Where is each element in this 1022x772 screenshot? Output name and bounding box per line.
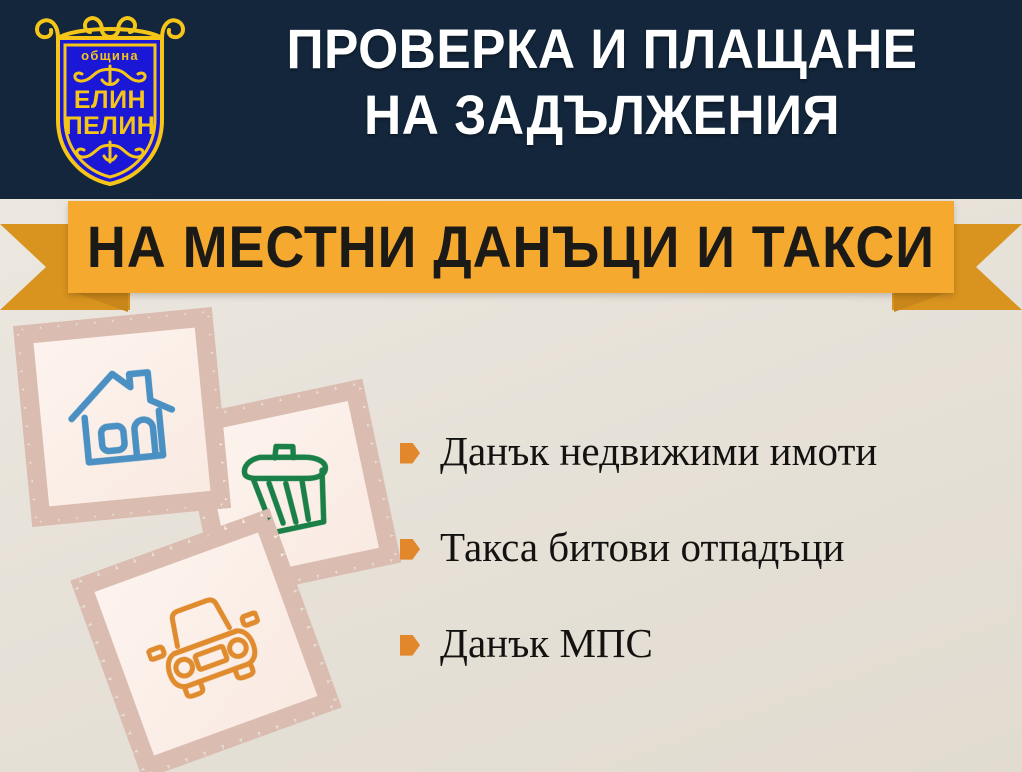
logo-text-elin: ЕЛИН <box>74 86 146 114</box>
list-item-label: Данък недвижими имоти <box>440 430 877 473</box>
list-item[interactable]: Такса битови отпадъци <box>400 526 1010 569</box>
stamp-paper <box>94 532 317 755</box>
house-icon <box>61 357 183 477</box>
ribbon-center-panel: НА МЕСТНИ ДАНЪЦИ И ТАКСИ <box>68 201 954 293</box>
list-item[interactable]: Данък недвижими имоти <box>400 430 1010 473</box>
bullet-arrow-icon <box>400 539 420 560</box>
elin-pelin-municipality-coat-of-arms-logo: община ЕЛИН ПЕЛИН <box>30 8 190 190</box>
page-title-line-2: НА ЗАДЪЛЖЕНИЯ <box>228 82 975 148</box>
subtitle-ribbon: НА МЕСТНИ ДАНЪЦИ И ТАКСИ <box>0 198 1022 310</box>
list-item-label: Данък МПС <box>440 622 653 665</box>
bullet-arrow-icon <box>400 635 420 656</box>
logo-text-pelin: ПЕЛИН <box>65 112 156 140</box>
bullet-arrow-icon <box>400 443 420 464</box>
stamp-card-house <box>13 307 231 527</box>
list-item-label: Такса битови отпадъци <box>440 526 844 569</box>
logo-text-obshtina: община <box>81 48 139 63</box>
poster-canvas: община ЕЛИН ПЕЛИН ПРОВЕРКА <box>0 0 1022 772</box>
stamp-paper <box>34 328 211 507</box>
coat-of-arms-icon: община ЕЛИН ПЕЛИН <box>30 8 190 190</box>
car-icon <box>134 579 278 710</box>
page-title: ПРОВЕРКА И ПЛАЩАНЕ НА ЗАДЪЛЖЕНИЯ <box>228 16 975 148</box>
list-item[interactable]: Данък МПС <box>400 622 1010 665</box>
page-title-line-1: ПРОВЕРКА И ПЛАЩАНЕ <box>228 16 975 82</box>
tax-type-list: Данък недвижими имоти Такса битови отпад… <box>400 430 1010 665</box>
ribbon-label: НА МЕСТНИ ДАНЪЦИ И ТАКСИ <box>87 214 935 281</box>
